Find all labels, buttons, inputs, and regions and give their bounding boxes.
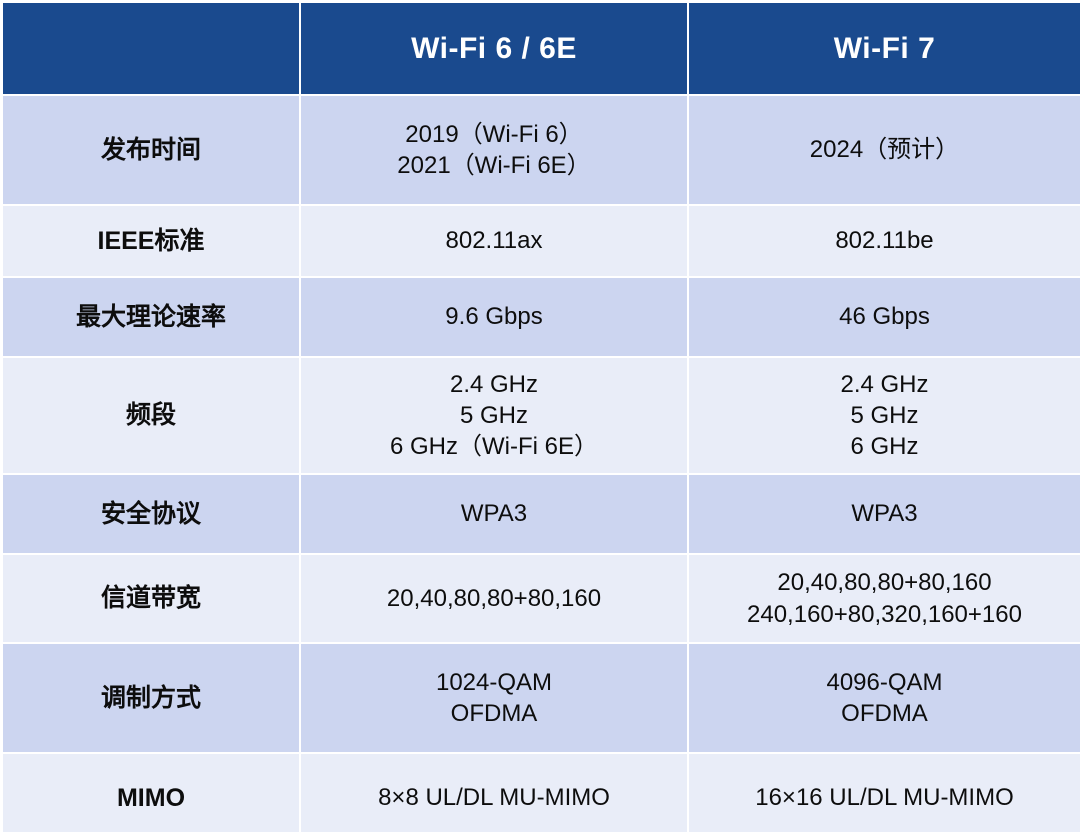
cell-ieee-standard-wifi6: 802.11ax bbox=[301, 206, 687, 276]
row-label-mimo: MIMO bbox=[3, 754, 299, 832]
cell-channel-bandwidth-wifi6: 20,40,80,80+80,160 bbox=[301, 555, 687, 642]
header-cell-label-column bbox=[3, 3, 299, 94]
row-label-channel-bandwidth: 信道带宽 bbox=[3, 555, 299, 642]
row-label-release-date: 发布时间 bbox=[3, 96, 299, 204]
table-header-row: Wi-Fi 6 / 6E Wi-Fi 7 bbox=[3, 3, 1080, 94]
table-row: 安全协议 WPA3 WPA3 bbox=[3, 475, 1080, 553]
cell-max-speed-wifi6: 9.6 Gbps bbox=[301, 278, 687, 356]
wifi-comparison-table: Wi-Fi 6 / 6E Wi-Fi 7 发布时间 2019（Wi-Fi 6） … bbox=[0, 0, 1080, 832]
table-row: MIMO 8×8 UL/DL MU-MIMO 16×16 UL/DL MU-MI… bbox=[3, 754, 1080, 832]
cell-release-date-wifi7: 2024（预计） bbox=[689, 96, 1080, 204]
cell-security-protocol-wifi7: WPA3 bbox=[689, 475, 1080, 553]
cell-modulation-wifi6: 1024-QAM OFDMA bbox=[301, 644, 687, 752]
cell-frequency-band-wifi7: 2.4 GHz 5 GHz 6 GHz bbox=[689, 358, 1080, 473]
cell-ieee-standard-wifi7: 802.11be bbox=[689, 206, 1080, 276]
cell-frequency-band-wifi6: 2.4 GHz 5 GHz 6 GHz（Wi-Fi 6E） bbox=[301, 358, 687, 473]
row-label-modulation: 调制方式 bbox=[3, 644, 299, 752]
cell-mimo-wifi6: 8×8 UL/DL MU-MIMO bbox=[301, 754, 687, 832]
table-row: 频段 2.4 GHz 5 GHz 6 GHz（Wi-Fi 6E） 2.4 GHz… bbox=[3, 358, 1080, 473]
header-cell-wifi6: Wi-Fi 6 / 6E bbox=[301, 3, 687, 94]
header-cell-wifi7: Wi-Fi 7 bbox=[689, 3, 1080, 94]
row-label-ieee-standard: IEEE标准 bbox=[3, 206, 299, 276]
table-row: 最大理论速率 9.6 Gbps 46 Gbps bbox=[3, 278, 1080, 356]
row-label-security-protocol: 安全协议 bbox=[3, 475, 299, 553]
table-row: 调制方式 1024-QAM OFDMA 4096-QAM OFDMA bbox=[3, 644, 1080, 752]
table-row: IEEE标准 802.11ax 802.11be bbox=[3, 206, 1080, 276]
cell-release-date-wifi6: 2019（Wi-Fi 6） 2021（Wi-Fi 6E） bbox=[301, 96, 687, 204]
cell-mimo-wifi7: 16×16 UL/DL MU-MIMO bbox=[689, 754, 1080, 832]
cell-modulation-wifi7: 4096-QAM OFDMA bbox=[689, 644, 1080, 752]
cell-channel-bandwidth-wifi7: 20,40,80,80+80,160 240,160+80,320,160+16… bbox=[689, 555, 1080, 642]
cell-max-speed-wifi7: 46 Gbps bbox=[689, 278, 1080, 356]
table-row: 发布时间 2019（Wi-Fi 6） 2021（Wi-Fi 6E） 2024（预… bbox=[3, 96, 1080, 204]
cell-security-protocol-wifi6: WPA3 bbox=[301, 475, 687, 553]
row-label-max-speed: 最大理论速率 bbox=[3, 278, 299, 356]
row-label-frequency-band: 频段 bbox=[3, 358, 299, 473]
table-row: 信道带宽 20,40,80,80+80,160 20,40,80,80+80,1… bbox=[3, 555, 1080, 642]
